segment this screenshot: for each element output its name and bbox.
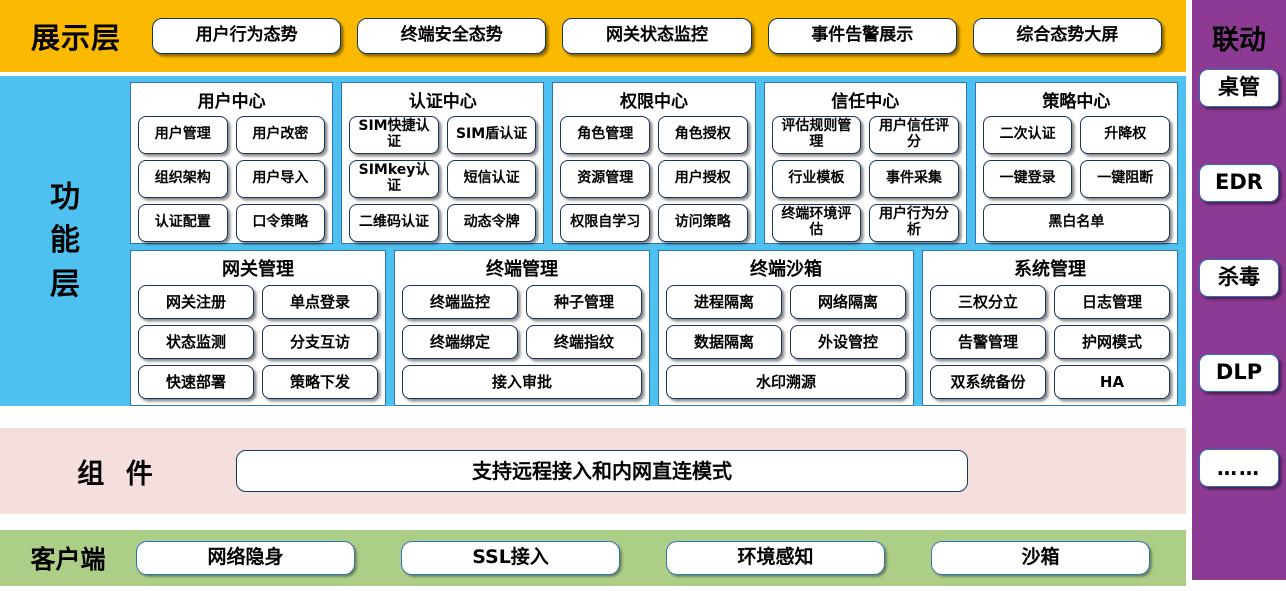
functional-layer-panels: 用户中心 用户管理 用户改密 组织架构 用户导入 认证配置 口令策略 认证中心 … (130, 76, 1186, 406)
cell-data-isolation[interactable]: 数据隔离 (666, 325, 782, 359)
cell-event-collection[interactable]: 事件采集 (869, 160, 959, 198)
cell-terminal-fingerprint[interactable]: 终端指纹 (526, 325, 642, 359)
cell-role-management[interactable]: 角色管理 (560, 116, 650, 154)
panel-items: 网关注册 单点登录 状态监测 分支互访 快速部署 策略下发 (138, 285, 378, 399)
cell-network-isolation[interactable]: 网络隔离 (790, 285, 906, 319)
display-item-gateway-status[interactable]: 网关状态监控 (562, 18, 751, 54)
panel-title: 信任中心 (831, 87, 899, 112)
cell-separation-of-powers[interactable]: 三权分立 (930, 285, 1046, 319)
cell-network-protection-mode[interactable]: 护网模式 (1054, 325, 1170, 359)
linkage-item-dlp[interactable]: DLP (1199, 354, 1279, 392)
linkage-item-desktop-management[interactable]: 桌管 (1199, 69, 1279, 107)
cell-resource-management[interactable]: 资源管理 (560, 160, 650, 198)
panel-trust-center: 信任中心 评估规则管理 用户信任评分 行业模板 事件采集 终端环境评估 用户行为… (764, 82, 967, 244)
cell-simkey-auth[interactable]: SIMkey认证 (349, 160, 439, 198)
panel-policy-center: 策略中心 二次认证 升降权 一键登录 一键阻断 黑白名单 (975, 82, 1178, 244)
architecture-diagram: 展示层 用户行为态势 终端安全态势 网关状态监控 事件告警展示 综合态势大屏 功… (0, 0, 1286, 591)
display-item-user-behavior[interactable]: 用户行为态势 (152, 18, 341, 54)
client-item-network-stealth[interactable]: 网络隐身 (136, 541, 355, 575)
cell-user-password-change[interactable]: 用户改密 (236, 116, 326, 154)
cell-privilege-escalation[interactable]: 升降权 (1080, 116, 1170, 154)
cell-gateway-registration[interactable]: 网关注册 (138, 285, 254, 319)
cell-assessment-rule-management[interactable]: 评估规则管理 (772, 116, 862, 154)
display-layer-items: 用户行为态势 终端安全态势 网关状态监控 事件告警展示 综合态势大屏 (152, 18, 1186, 54)
cell-branch-interconnect[interactable]: 分支互访 (262, 325, 378, 359)
display-item-situation-screen[interactable]: 综合态势大屏 (973, 18, 1162, 54)
panel-title: 认证中心 (409, 87, 477, 112)
cell-alarm-management[interactable]: 告警管理 (930, 325, 1046, 359)
cell-industry-template[interactable]: 行业模板 (772, 160, 862, 198)
cell-user-authorization[interactable]: 用户授权 (658, 160, 748, 198)
cell-user-import[interactable]: 用户导入 (236, 160, 326, 198)
functional-layer-label-char-2: 能 (50, 219, 80, 263)
panel-items: 三权分立 日志管理 告警管理 护网模式 双系统备份 HA (930, 285, 1170, 399)
client-item-ssl-access[interactable]: SSL接入 (401, 541, 620, 575)
panel-items: 角色管理 角色授权 资源管理 用户授权 权限自学习 访问策略 (560, 116, 747, 242)
cell-status-monitoring[interactable]: 状态监测 (138, 325, 254, 359)
linkage-item-antivirus[interactable]: 杀毒 (1199, 259, 1279, 297)
panel-title: 策略中心 (1042, 87, 1110, 112)
cell-role-authorization[interactable]: 角色授权 (658, 116, 748, 154)
display-layer-label: 展示层 (0, 15, 152, 57)
panel-title: 网关管理 (222, 255, 294, 281)
client-item-sandbox[interactable]: 沙箱 (931, 541, 1150, 575)
panel-items: 终端监控 种子管理 终端绑定 终端指纹 接入审批 (402, 285, 642, 399)
panel-gateway-management: 网关管理 网关注册 单点登录 状态监测 分支互访 快速部署 策略下发 (130, 250, 386, 406)
cell-secondary-auth[interactable]: 二次认证 (983, 116, 1073, 154)
linkage-layer-title: 联动 (1212, 18, 1266, 57)
cell-qrcode-auth[interactable]: 二维码认证 (349, 204, 439, 242)
cell-process-isolation[interactable]: 进程隔离 (666, 285, 782, 319)
display-item-endpoint-security[interactable]: 终端安全态势 (357, 18, 546, 54)
cell-password-policy[interactable]: 口令策略 (236, 204, 326, 242)
panel-permission-center: 权限中心 角色管理 角色授权 资源管理 用户授权 权限自学习 访问策略 (552, 82, 755, 244)
cell-seed-management[interactable]: 种子管理 (526, 285, 642, 319)
cell-watermark-tracing[interactable]: 水印溯源 (666, 365, 906, 399)
functional-row-1: 用户中心 用户管理 用户改密 组织架构 用户导入 认证配置 口令策略 认证中心 … (130, 82, 1178, 244)
cell-terminal-binding[interactable]: 终端绑定 (402, 325, 518, 359)
cell-auth-config[interactable]: 认证配置 (138, 204, 228, 242)
client-layer-label: 客户端 (0, 540, 136, 576)
cell-access-approval[interactable]: 接入审批 (402, 365, 642, 399)
cell-rapid-deployment[interactable]: 快速部署 (138, 365, 254, 399)
functional-layer-band: 功 能 层 用户中心 用户管理 用户改密 组织架构 用户导入 认证配置 口令策略 (0, 76, 1186, 406)
client-item-environment-awareness[interactable]: 环境感知 (666, 541, 885, 575)
panel-terminal-management: 终端管理 终端监控 种子管理 终端绑定 终端指纹 接入审批 (394, 250, 650, 406)
panel-items: 进程隔离 网络隔离 数据隔离 外设管控 水印溯源 (666, 285, 906, 399)
cell-peripheral-control[interactable]: 外设管控 (790, 325, 906, 359)
cell-policy-distribution[interactable]: 策略下发 (262, 365, 378, 399)
cell-user-management[interactable]: 用户管理 (138, 116, 228, 154)
panel-items: 用户管理 用户改密 组织架构 用户导入 认证配置 口令策略 (138, 116, 325, 242)
cell-endpoint-env-assessment[interactable]: 终端环境评估 (772, 204, 862, 242)
panel-title: 终端沙箱 (750, 255, 822, 281)
cell-dual-system-backup[interactable]: 双系统备份 (930, 365, 1046, 399)
cell-terminal-monitoring[interactable]: 终端监控 (402, 285, 518, 319)
client-layer-band: 客户端 网络隐身 SSL接入 环境感知 沙箱 (0, 530, 1186, 586)
cell-one-click-block[interactable]: 一键阻断 (1080, 160, 1170, 198)
panel-title: 终端管理 (486, 255, 558, 281)
cell-sim-shield-auth[interactable]: SIM盾认证 (447, 116, 537, 154)
panel-title: 用户中心 (198, 87, 266, 112)
functional-layer-label-char-3: 层 (50, 263, 80, 307)
component-layer-label: 组 件 (0, 452, 236, 491)
cell-one-click-login[interactable]: 一键登录 (983, 160, 1073, 198)
cell-dynamic-token[interactable]: 动态令牌 (447, 204, 537, 242)
cell-ha[interactable]: HA (1054, 365, 1170, 399)
client-layer-items: 网络隐身 SSL接入 环境感知 沙箱 (136, 541, 1186, 575)
panel-system-management: 系统管理 三权分立 日志管理 告警管理 护网模式 双系统备份 HA (922, 250, 1178, 406)
cell-single-sign-on[interactable]: 单点登录 (262, 285, 378, 319)
panel-items: SIM快捷认证 SIM盾认证 SIMkey认证 短信认证 二维码认证 动态令牌 (349, 116, 536, 242)
cell-sim-quick-auth[interactable]: SIM快捷认证 (349, 116, 439, 154)
linkage-layer-band: 联动 桌管 EDR 杀毒 DLP …… (1192, 0, 1286, 580)
component-layer-band: 组 件 支持远程接入和内网直连模式 (0, 428, 1186, 514)
panel-title: 系统管理 (1014, 255, 1086, 281)
panel-items: 二次认证 升降权 一键登录 一键阻断 黑白名单 (983, 116, 1170, 242)
panel-terminal-sandbox: 终端沙箱 进程隔离 网络隔离 数据隔离 外设管控 水印溯源 (658, 250, 914, 406)
panel-auth-center: 认证中心 SIM快捷认证 SIM盾认证 SIMkey认证 短信认证 二维码认证 … (341, 82, 544, 244)
display-item-event-alarm[interactable]: 事件告警展示 (768, 18, 957, 54)
cell-access-policy[interactable]: 访问策略 (658, 204, 748, 242)
linkage-item-more[interactable]: …… (1199, 449, 1279, 487)
cell-org-structure[interactable]: 组织架构 (138, 160, 228, 198)
cell-sms-auth[interactable]: 短信认证 (447, 160, 537, 198)
cell-user-trust-score[interactable]: 用户信任评分 (869, 116, 959, 154)
cell-blacklist-whitelist[interactable]: 黑白名单 (983, 204, 1170, 242)
component-item-remote-access-mode[interactable]: 支持远程接入和内网直连模式 (236, 450, 968, 492)
cell-permission-self-learning[interactable]: 权限自学习 (560, 204, 650, 242)
display-layer-band: 展示层 用户行为态势 终端安全态势 网关状态监控 事件告警展示 综合态势大屏 (0, 0, 1186, 72)
panel-user-center: 用户中心 用户管理 用户改密 组织架构 用户导入 认证配置 口令策略 (130, 82, 333, 244)
functional-row-2: 网关管理 网关注册 单点登录 状态监测 分支互访 快速部署 策略下发 终端管理 … (130, 250, 1178, 406)
panel-items: 评估规则管理 用户信任评分 行业模板 事件采集 终端环境评估 用户行为分析 (772, 116, 959, 242)
panel-title: 权限中心 (620, 87, 688, 112)
linkage-item-edr[interactable]: EDR (1199, 164, 1279, 202)
functional-layer-label: 功 能 层 (0, 76, 130, 406)
cell-log-management[interactable]: 日志管理 (1054, 285, 1170, 319)
cell-user-behavior-analysis[interactable]: 用户行为分析 (869, 204, 959, 242)
functional-layer-label-char-1: 功 (50, 176, 80, 220)
